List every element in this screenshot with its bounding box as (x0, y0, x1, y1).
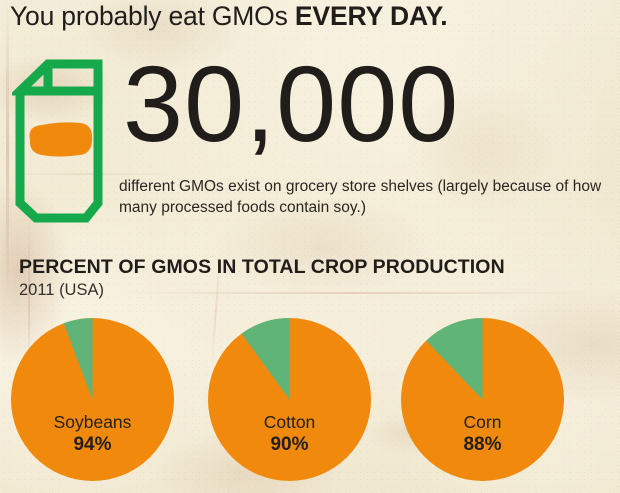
pie-chart-row: Soybeans 94% Cotton 90% Corn 88% (0, 318, 620, 493)
stat-number: 30,000 (123, 50, 459, 158)
pie-chart-corn: Corn 88% (401, 318, 564, 481)
headline-lead: You probably eat GMOs (10, 1, 295, 31)
headline: You probably eat GMOs EVERY DAY. (10, 1, 448, 32)
headline-emphasis: EVERY DAY. (295, 1, 448, 31)
stat-description: different GMOs exist on grocery store sh… (119, 177, 619, 218)
pie-chart-cotton: Cotton 90% (208, 318, 371, 481)
paper-streak (6, 0, 9, 300)
milk-carton-icon (12, 58, 110, 223)
paper-streak (120, 292, 590, 294)
infographic-panel: You probably eat GMOs EVERY DAY. 30,000 … (0, 0, 620, 493)
section-subtitle: 2011 (USA) (19, 281, 104, 300)
section-title: PERCENT OF GMOS IN TOTAL CROP PRODUCTION (19, 256, 505, 279)
carton-label-blob (30, 122, 93, 156)
pie-chart-soybeans: Soybeans 94% (11, 318, 174, 481)
